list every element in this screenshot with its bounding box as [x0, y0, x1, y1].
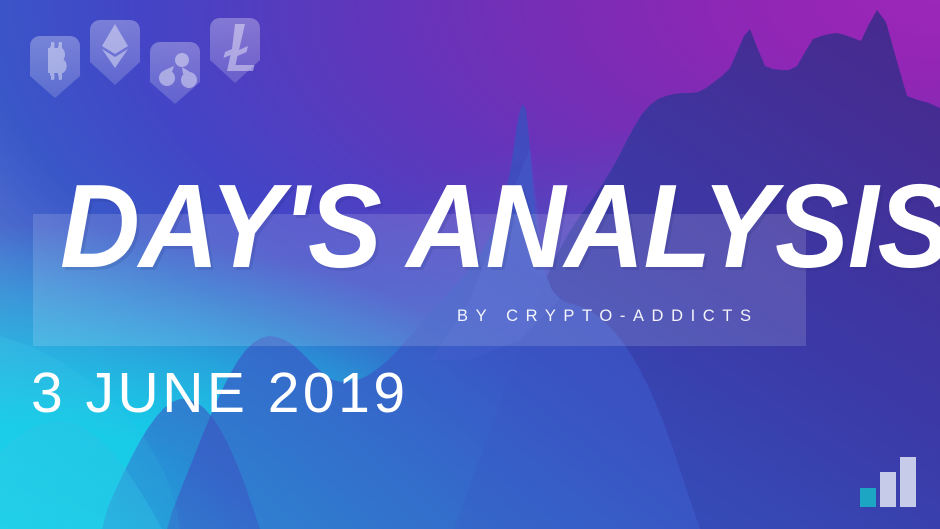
ethereum-icon — [90, 20, 140, 85]
page-title: DAY'S ANALYSIS — [60, 167, 940, 286]
bitcoin-icon — [30, 36, 80, 98]
crypto-analysis-banner: DAY'S ANALYSIS BY CRYPTO-ADDICTS 3 JUNE … — [0, 0, 940, 529]
litecoin-icon — [210, 18, 260, 83]
crypto-icon-row — [22, 8, 282, 118]
date-label: 3 JUNE 2019 — [31, 365, 409, 422]
ripple-icon — [150, 42, 200, 104]
logo-bar-2 — [880, 472, 896, 508]
bar-chart-logo — [860, 457, 918, 507]
byline-text: BY CRYPTO-ADDICTS — [457, 307, 759, 326]
logo-bar-1 — [860, 488, 876, 507]
logo-bar-3 — [900, 457, 916, 507]
